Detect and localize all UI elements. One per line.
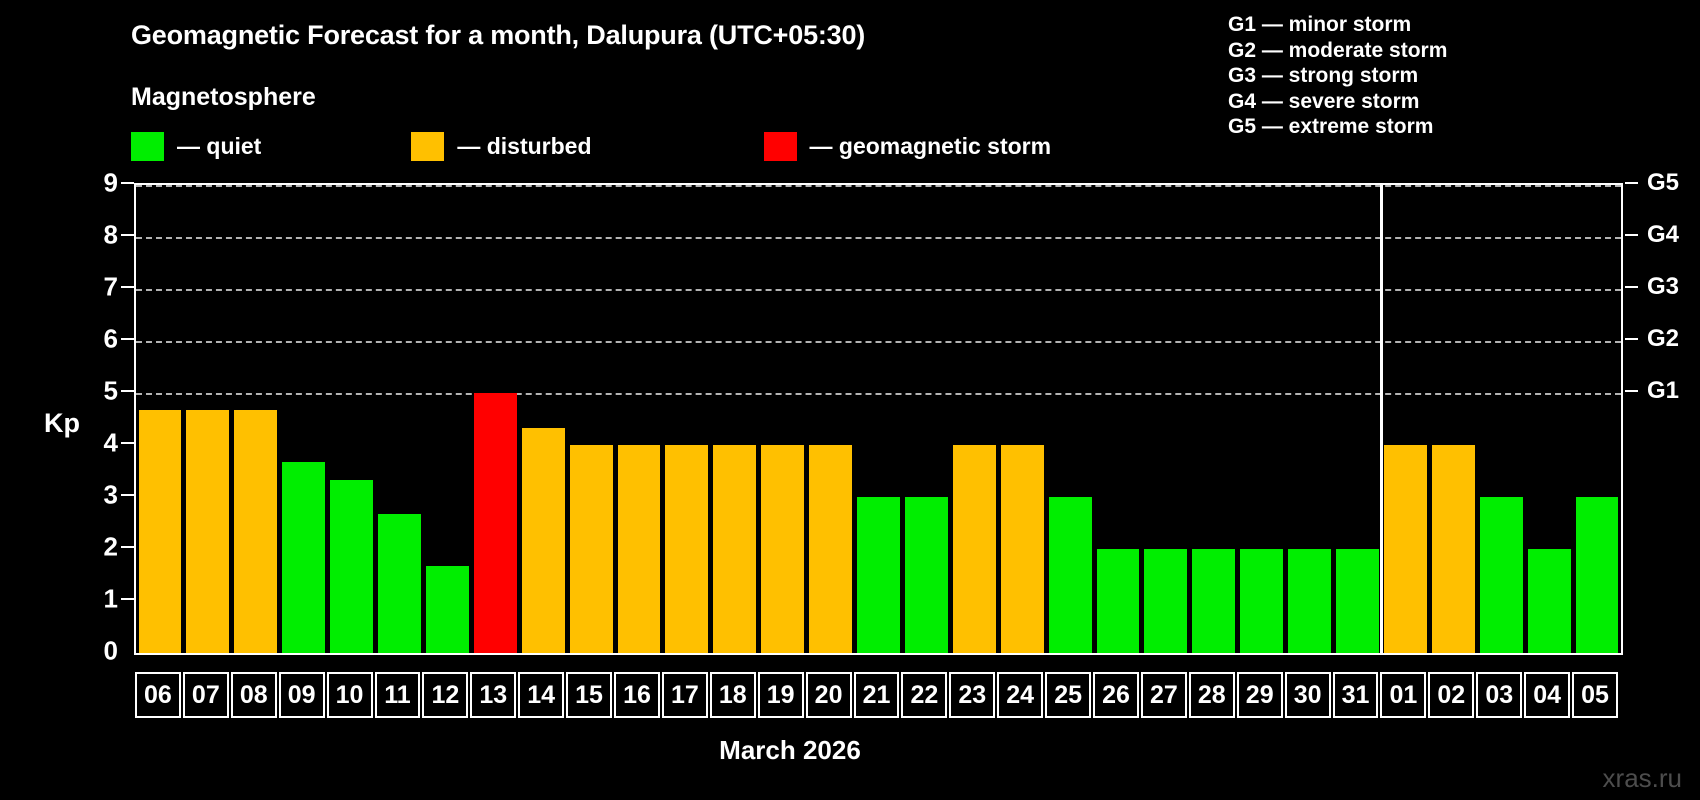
g-legend-line-3: G3 — strong storm (1228, 63, 1447, 89)
y-tick-mark-5 (121, 390, 134, 392)
y-tick-label-4: 4 (104, 428, 118, 459)
y-tick-label-2: 2 (104, 532, 118, 563)
date-label-17: 17 (662, 672, 708, 718)
bar-24 (1001, 445, 1044, 653)
date-label-11: 11 (375, 672, 421, 718)
color-legend: — quiet— disturbed— geomagnetic storm (131, 130, 1051, 162)
date-label-02: 02 (1428, 672, 1474, 718)
plot-inner (136, 185, 1621, 653)
bar-07 (186, 410, 229, 653)
bar-09 (282, 462, 325, 653)
g-tick-mark-G4 (1625, 234, 1638, 236)
y-tick-label-5: 5 (104, 376, 118, 407)
legend-swatch-quiet-icon (131, 132, 164, 161)
date-label-06: 06 (135, 672, 181, 718)
bar-series (136, 185, 1621, 653)
bar-16 (618, 445, 661, 653)
bar-31 (1336, 549, 1379, 653)
g-tick-mark-G5 (1625, 182, 1638, 184)
date-label-29: 29 (1237, 672, 1283, 718)
legend-swatch-disturbed-icon (411, 132, 444, 161)
bar-02 (1432, 445, 1475, 653)
legend-item-quiet: — quiet (131, 132, 261, 161)
g-legend-line-4: G4 — severe storm (1228, 89, 1447, 115)
bar-13 (474, 393, 517, 653)
date-label-07: 07 (183, 672, 229, 718)
bar-26 (1097, 549, 1140, 653)
date-label-24: 24 (997, 672, 1043, 718)
bar-06 (139, 410, 182, 653)
g-tick-mark-G2 (1625, 338, 1638, 340)
date-label-10: 10 (327, 672, 373, 718)
g-tick-label-G5: G5 (1647, 169, 1679, 197)
bar-04 (1528, 549, 1571, 653)
date-label-23: 23 (949, 672, 995, 718)
g-legend-line-2: G2 — moderate storm (1228, 38, 1447, 64)
date-label-08: 08 (231, 672, 277, 718)
x-axis-date-labels: 0607080910111213141516171819202122232425… (134, 672, 1623, 718)
date-label-25: 25 (1045, 672, 1091, 718)
bar-10 (330, 480, 373, 653)
magnetosphere-section-label: Magnetosphere (131, 83, 316, 112)
date-label-14: 14 (518, 672, 564, 718)
bar-30 (1288, 549, 1331, 653)
bar-28 (1192, 549, 1235, 653)
g-legend-line-1: G1 — minor storm (1228, 12, 1447, 38)
bar-14 (522, 428, 565, 653)
bar-21 (857, 497, 900, 653)
x-axis-label: March 2026 (0, 735, 1700, 766)
bar-29 (1240, 549, 1283, 653)
x-axis-label-text: March 2026 (719, 735, 861, 765)
date-label-03: 03 (1476, 672, 1522, 718)
legend-item-disturbed: — disturbed (411, 132, 591, 161)
bar-15 (570, 445, 613, 653)
date-label-04: 04 (1524, 672, 1570, 718)
date-label-01: 01 (1380, 672, 1426, 718)
bar-01 (1384, 445, 1427, 653)
bar-12 (426, 566, 469, 653)
y-tick-mark-8 (121, 234, 134, 236)
date-label-09: 09 (279, 672, 325, 718)
y-tick-label-6: 6 (104, 324, 118, 355)
y-tick-mark-1 (121, 598, 134, 600)
date-label-13: 13 (470, 672, 516, 718)
g-tick-mark-G3 (1625, 286, 1638, 288)
y-tick-label-1: 1 (104, 584, 118, 615)
watermark: xras.ru (1603, 763, 1682, 794)
bar-03 (1480, 497, 1523, 653)
y-tick-mark-9 (121, 182, 134, 184)
legend-swatch-storm-icon (764, 132, 797, 161)
y-tick-label-7: 7 (104, 272, 118, 303)
y-tick-label-8: 8 (104, 220, 118, 251)
bar-11 (378, 514, 421, 653)
legend-label-disturbed: — disturbed (457, 133, 591, 160)
bar-17 (665, 445, 708, 653)
g-axis-ticks: G1G2G3G4G5 (1625, 183, 1695, 655)
month-divider-line (1380, 185, 1383, 653)
page-title: Geomagnetic Forecast for a month, Dalupu… (131, 20, 865, 51)
y-tick-mark-7 (121, 286, 134, 288)
y-tick-label-9: 9 (104, 168, 118, 199)
date-label-19: 19 (758, 672, 804, 718)
legend-item-storm: — geomagnetic storm (764, 132, 1052, 161)
legend-label-quiet: — quiet (177, 133, 261, 160)
g-tick-label-G4: G4 (1647, 221, 1679, 249)
g-tick-label-G2: G2 (1647, 325, 1679, 353)
date-label-22: 22 (901, 672, 947, 718)
date-label-21: 21 (854, 672, 900, 718)
date-label-15: 15 (566, 672, 612, 718)
date-label-12: 12 (422, 672, 468, 718)
g-scale-legend: G1 — minor stormG2 — moderate stormG3 — … (1228, 12, 1447, 140)
g-tick-label-G3: G3 (1647, 273, 1679, 301)
bar-22 (905, 497, 948, 653)
y-tick-mark-3 (121, 494, 134, 496)
legend-label-storm: — geomagnetic storm (810, 133, 1052, 160)
geomagnetic-forecast-chart: Geomagnetic Forecast for a month, Dalupu… (0, 0, 1700, 800)
bar-08 (234, 410, 277, 653)
y-axis-ticks: 0123456789 (78, 183, 118, 655)
y-tick-mark-6 (121, 338, 134, 340)
plot-area (134, 183, 1623, 655)
date-label-05: 05 (1572, 672, 1618, 718)
date-label-27: 27 (1141, 672, 1187, 718)
y-tick-label-3: 3 (104, 480, 118, 511)
g-legend-line-5: G5 — extreme storm (1228, 114, 1447, 140)
date-label-26: 26 (1093, 672, 1139, 718)
date-label-18: 18 (710, 672, 756, 718)
g-tick-label-G1: G1 (1647, 377, 1679, 405)
y-tick-label-0: 0 (104, 636, 118, 667)
y-tick-mark-4 (121, 442, 134, 444)
bar-20 (809, 445, 852, 653)
bar-27 (1144, 549, 1187, 653)
date-label-28: 28 (1189, 672, 1235, 718)
bar-18 (713, 445, 756, 653)
date-label-31: 31 (1333, 672, 1379, 718)
y-axis-label: Kp (44, 408, 80, 439)
g-tick-mark-G1 (1625, 390, 1638, 392)
y-tick-mark-2 (121, 546, 134, 548)
date-label-16: 16 (614, 672, 660, 718)
bar-19 (761, 445, 804, 653)
date-label-20: 20 (806, 672, 852, 718)
bar-25 (1049, 497, 1092, 653)
bar-23 (953, 445, 996, 653)
bar-05 (1576, 497, 1619, 653)
date-label-30: 30 (1285, 672, 1331, 718)
